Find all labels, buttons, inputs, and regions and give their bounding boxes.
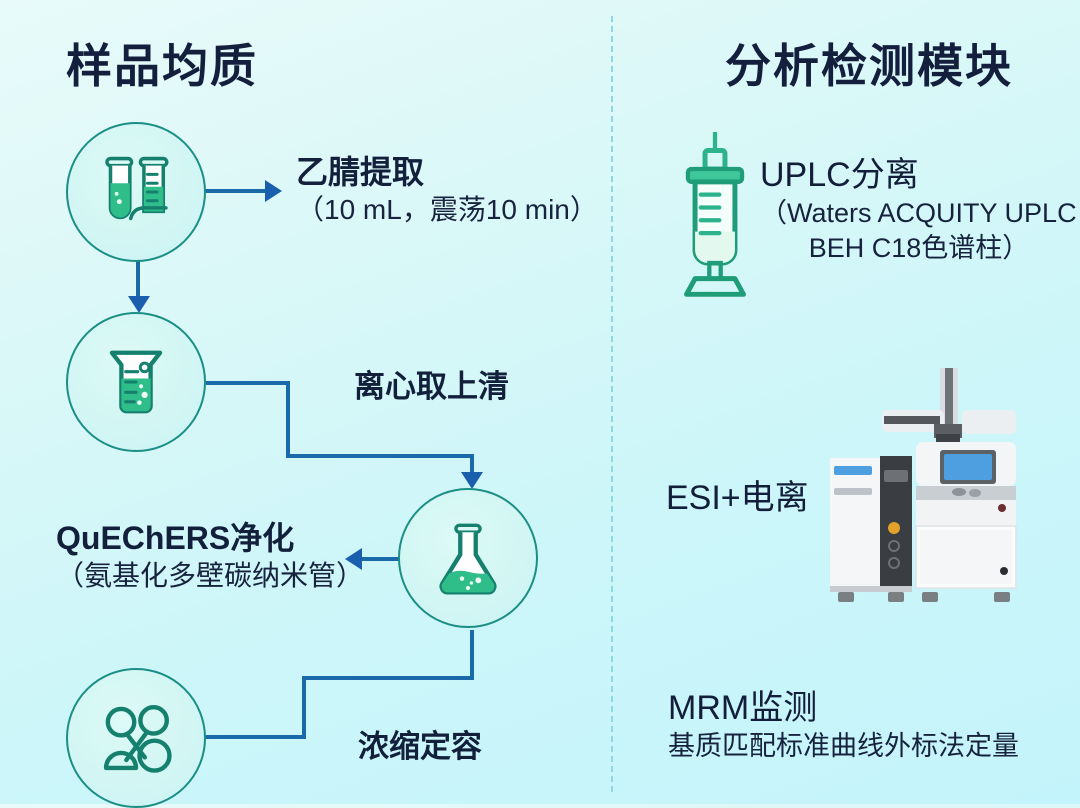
- step-mrm-sub: 基质匹配标准曲线外标法定量: [668, 729, 1019, 765]
- connector-beaker-elbow-h2: [286, 454, 474, 458]
- node-test-tubes[interactable]: [66, 122, 206, 262]
- test-tubes-icon: [92, 148, 180, 236]
- arrow-right-extraction: [265, 180, 282, 202]
- step-concentrate-label: 浓缩定容: [358, 721, 482, 766]
- step-uplc: UPLC分离 （Waters ACQUITY UPLC BEH C18色谱柱）: [760, 155, 1078, 267]
- connector-beaker-elbow-v: [286, 381, 290, 458]
- connector-elbow-to-molecule: [205, 735, 306, 739]
- molecule-icon: [92, 694, 180, 782]
- step-centrifuge-label: 离心取上清: [354, 361, 509, 406]
- node-beaker[interactable]: [66, 312, 206, 452]
- step-cleanup-sub: （氨基化多壁碳纳米管）: [56, 558, 364, 594]
- syringe-icon: [672, 132, 758, 300]
- arrow-down-beaker: [128, 296, 150, 313]
- diagram-canvas: 样品均质 分析检测模块: [0, 0, 1080, 804]
- step-extraction-main: 乙腈提取: [296, 152, 598, 192]
- node-molecule[interactable]: [66, 668, 206, 808]
- connector-flask-elbow-v: [302, 676, 306, 739]
- step-cleanup-main: QuEChERS净化: [56, 518, 364, 558]
- right-panel-title: 分析检测模块: [725, 30, 1013, 96]
- step-esi-label: ESI+电离: [666, 478, 809, 519]
- connector-tubes-to-extraction: [205, 189, 267, 193]
- arrow-down-flask: [461, 472, 483, 489]
- step-uplc-sub-line1: （Waters ACQUITY UPLC: [760, 196, 1078, 232]
- step-uplc-main: UPLC分离: [760, 155, 1078, 196]
- panel-divider: [611, 16, 613, 792]
- node-flask[interactable]: [398, 488, 538, 628]
- step-extraction-sub: （10 mL，震荡10 min）: [296, 192, 598, 228]
- node-syringe[interactable]: [672, 132, 758, 305]
- step-mrm: MRM监测 基质匹配标准曲线外标法定量: [668, 688, 1019, 764]
- node-lcms-instrument[interactable]: [812, 368, 1060, 615]
- step-cleanup: QuEChERS净化 （氨基化多壁碳纳米管）: [56, 518, 364, 594]
- erlenmeyer-flask-icon: [425, 515, 511, 601]
- connector-flask-elbow-h1: [302, 676, 474, 680]
- step-mrm-main: MRM监测: [668, 688, 1019, 729]
- lcms-instrument-image: [812, 368, 1060, 610]
- connector-flask-down: [470, 630, 474, 680]
- left-panel-title: 样品均质: [66, 30, 258, 96]
- step-extraction: 乙腈提取 （10 mL，震荡10 min）: [296, 152, 598, 228]
- connector-beaker-elbow-h1: [206, 381, 290, 385]
- step-uplc-sub-line2: BEH C18色谱柱）: [760, 231, 1078, 267]
- beaker-icon: [93, 339, 179, 425]
